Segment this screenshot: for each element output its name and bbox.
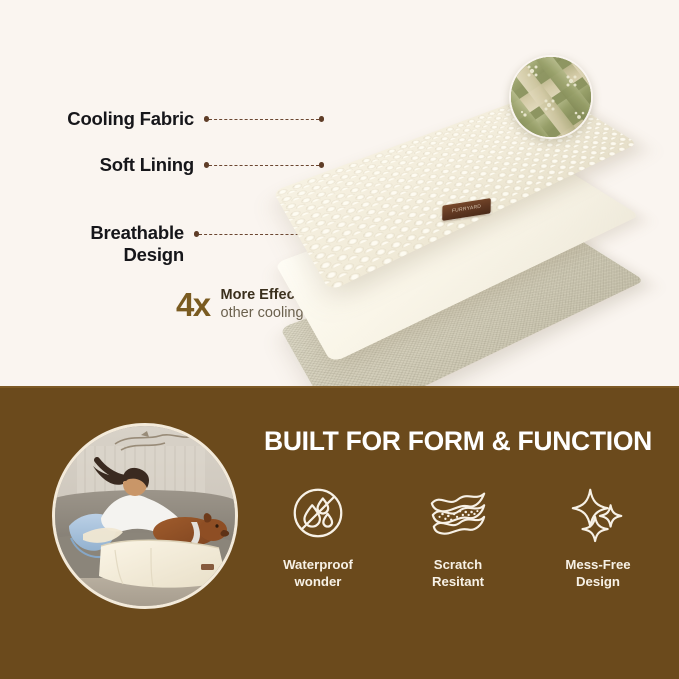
feature-scratch-resistant: Scratch Resitant (398, 482, 518, 591)
lifestyle-photo (52, 423, 238, 609)
claim-multiplier: 4x (176, 288, 210, 321)
wavy-fabric-icon (427, 482, 489, 544)
feature-label-mess-free: Mess-Free Design (565, 557, 630, 591)
water-drop-no-entry-icon (287, 482, 349, 544)
callout-label-cooling-fabric: Cooling Fabric (42, 108, 194, 130)
product-infographic: Cooling Fabric Soft Lining Breathable De… (0, 0, 679, 679)
callout-label-soft-lining: Soft Lining (42, 154, 194, 176)
sparkles-icon (567, 482, 629, 544)
feature-label-waterproof: Waterproof wonder (283, 557, 353, 591)
feature-mess-free: Mess-Free Design (538, 482, 658, 591)
features-section: BUILT FOR FORM & FUNCTION Waterproof won… (0, 386, 679, 679)
woven-fiber-macro-icon (509, 55, 593, 139)
layers-breakdown-section: Cooling Fabric Soft Lining Breathable De… (0, 0, 679, 386)
feature-grid: Waterproof wonder (258, 482, 658, 591)
section-divider (0, 386, 679, 388)
callout-label-breathable-design: Breathable Design (42, 222, 184, 266)
exploded-mat-stack: FURRYARD (268, 52, 679, 372)
fabric-weave-detail-inset (509, 55, 593, 139)
feature-waterproof: Waterproof wonder (258, 482, 378, 591)
features-heading: BUILT FOR FORM & FUNCTION (258, 426, 658, 457)
lifestyle-scene-illustration (55, 426, 235, 606)
feature-label-scratch-resistant: Scratch Resitant (432, 557, 484, 591)
